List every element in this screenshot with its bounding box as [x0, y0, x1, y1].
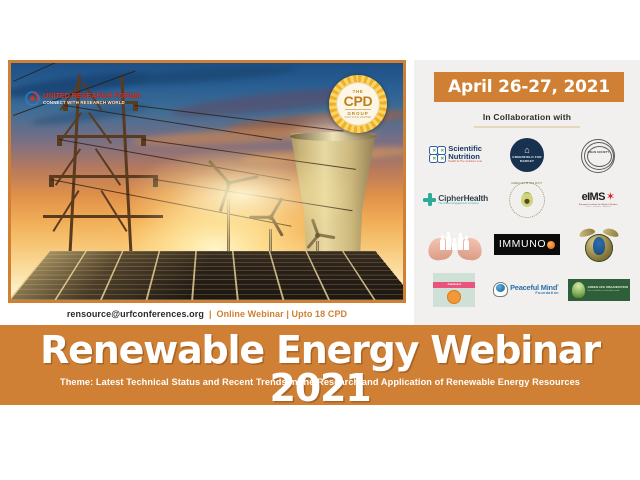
logo-row: CipherHealth The Patient Engagement Comp…	[420, 177, 634, 222]
theme-subtitle: Theme: Latest Technical Status and Recen…	[0, 377, 640, 387]
logo-eims[interactable]: eIMS ✶ European Institute for Medical St…	[564, 179, 632, 221]
collaboration-label: In Collaboration with	[414, 112, 640, 122]
collaborator-logo-grid: ✕ ✕ ✕ ✕ Scientific Nutrition Health At T…	[420, 132, 634, 312]
logo-crest-emblem[interactable]	[565, 224, 633, 266]
hero-image: UNITED RESEARCH FORUM CONNECT WITH RESEA…	[11, 63, 403, 300]
logo-title: IMMUNO	[499, 239, 546, 250]
logo-green-nutrition-seal[interactable]: GREEN NUTRITION ROOT	[493, 179, 561, 221]
organizer-name: UNITED RESEARCH FORUM	[43, 92, 140, 100]
contact-separator: |	[209, 309, 212, 319]
title-band: Renewable Energy Webinar 2021 Theme: Lat…	[0, 325, 640, 405]
cpd-sub-label: CERTIFIED MEMBER	[345, 116, 372, 119]
logo-title-2: For a healthier sustainable world	[588, 290, 628, 293]
logo-title: GREEN NUTRITION ROOT	[511, 182, 542, 185]
logo-title: eIMS	[582, 192, 605, 203]
logo-tagline: The Patient Engagement Company	[438, 203, 488, 206]
eims-star-icon: ✶	[606, 192, 615, 203]
logo-scientific-nutrition[interactable]: ✕ ✕ ✕ ✕ Scientific Nutrition Health At T…	[422, 134, 490, 176]
cpd-main-label: CPD	[344, 94, 373, 108]
hands-family-icon	[427, 228, 483, 262]
logo-row: Awareness Peaceful Mind® Foundation	[420, 267, 634, 312]
contact-bar: rensource@urfconferences.org | Online We…	[8, 303, 406, 325]
cooling-tower-rim	[290, 132, 376, 141]
logo-title: GREENFIELD FOR MARKET	[510, 156, 544, 164]
logo-tagline-2: Learn · Innovate · Advance	[586, 206, 611, 208]
pink-band-circle-icon: Awareness	[433, 273, 475, 307]
logo-green-banner-org[interactable]: GREEN LIFE ORGANIZATION For a healthier …	[564, 269, 634, 311]
collaboration-divider	[474, 126, 580, 128]
logo-row: IMMUNO	[420, 222, 634, 267]
collaborators-panel: April 26-27, 2021 In Collaboration with …	[414, 60, 640, 325]
trademark-symbol: ®	[557, 284, 559, 287]
hero-image-frame: UNITED RESEARCH FORUM CONNECT WITH RESEA…	[8, 60, 406, 303]
logo-peaceful-mind-foundation[interactable]: Peaceful Mind® Foundation	[489, 269, 563, 311]
logo-title-2: Foundation	[510, 292, 559, 296]
logo-pink-awareness[interactable]: Awareness	[420, 269, 488, 311]
webinar-poster: UNITED RESEARCH FORUM CONNECT WITH RESEA…	[0, 0, 640, 480]
contact-mode: Online Webinar | Upto 18 CPD	[216, 309, 347, 319]
event-date: April 26-27, 2021	[448, 77, 610, 97]
logo-greenfield-for-market[interactable]: ⌂ GREENFIELD FOR MARKET	[493, 134, 561, 176]
logo-cipherhealth[interactable]: CipherHealth The Patient Engagement Comp…	[422, 179, 490, 221]
scientific-nutrition-icon: ✕ ✕ ✕ ✕	[429, 146, 446, 163]
cpd-divider	[345, 109, 371, 110]
logo-tagline: Health At The Cellular Level	[448, 161, 482, 164]
urf-mark-icon	[25, 91, 40, 106]
logo-caring-hands[interactable]	[421, 224, 489, 266]
logo-row: ✕ ✕ ✕ ✕ Scientific Nutrition Health At T…	[420, 132, 634, 177]
cpd-badge: THE CPD GROUP CERTIFIED MEMBER	[329, 75, 387, 133]
logo-title: Awareness	[433, 282, 475, 288]
sun-flare	[131, 150, 351, 240]
top-whitespace	[0, 0, 640, 58]
arch-monogram-icon: ⌂ GREENFIELD FOR MARKET	[510, 138, 544, 172]
cipherhealth-cross-icon	[423, 193, 436, 206]
logo-title: ASIAN SOCIETY	[580, 151, 616, 154]
bottom-whitespace	[0, 405, 640, 480]
concentric-rings-icon: ASIAN SOCIETY	[580, 138, 616, 172]
contact-email[interactable]: rensource@urfconferences.org	[67, 309, 204, 319]
date-banner: April 26-27, 2021	[434, 72, 624, 102]
page-title: Renewable Energy Webinar 2021	[0, 331, 640, 407]
solar-panel-array-icon	[11, 251, 403, 300]
green-figure-icon	[572, 282, 585, 298]
winged-globe-icon	[581, 227, 617, 263]
orange-dot-icon	[547, 241, 555, 249]
brain-head-icon	[493, 282, 508, 297]
organizer-tagline: CONNECT WITH RESEARCH WORLD	[43, 101, 140, 105]
avocado-seal-icon: GREEN NUTRITION ROOT	[509, 182, 545, 218]
organizer-logo: UNITED RESEARCH FORUM CONNECT WITH RESEA…	[25, 91, 140, 106]
logo-asian-society[interactable]: ASIAN SOCIETY	[564, 134, 632, 176]
logo-immuno[interactable]: IMMUNO	[490, 224, 564, 266]
